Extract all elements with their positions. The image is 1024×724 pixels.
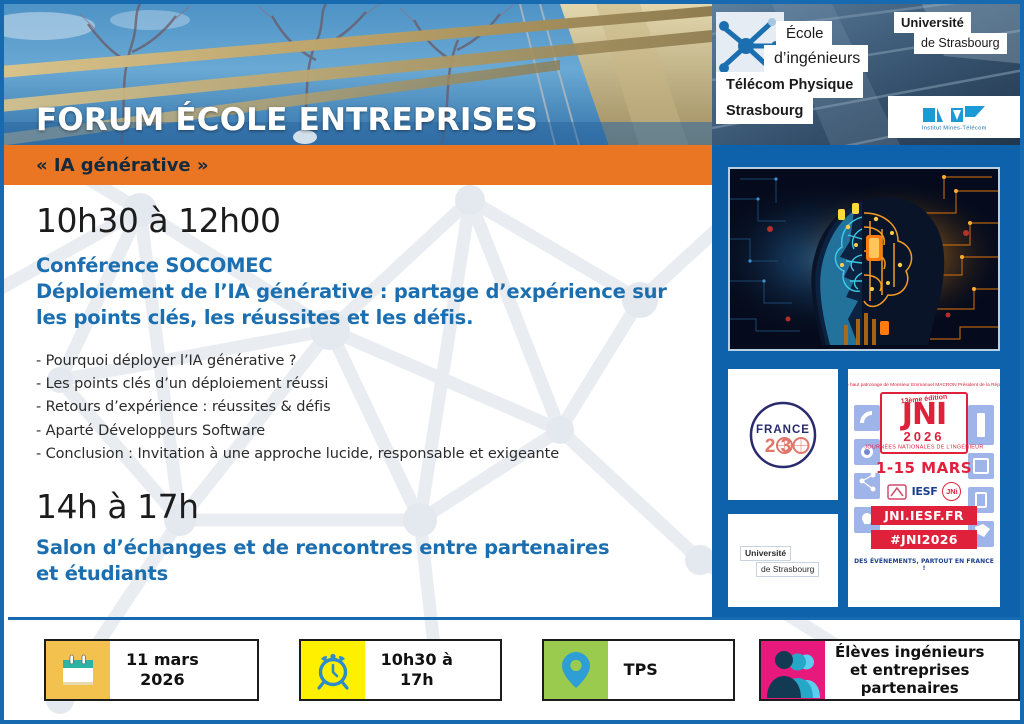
list-item: - Aparté Développeurs Software [36, 420, 682, 443]
alarm-clock-icon [301, 641, 365, 699]
school-logo-line-3: Télécom Physique [716, 72, 863, 98]
sidebar-right-column: Sous le haut patronage de Monsieur Emman… [848, 369, 1000, 612]
poster-title-band: FORUM ÉCOLE ENTREPRISES [0, 95, 712, 145]
calendar-icon [46, 641, 110, 699]
chip-label-place: TPS [608, 660, 674, 680]
page-title: FORUM ÉCOLE ENTREPRISES [0, 102, 538, 138]
info-chip-place: TPS [542, 639, 735, 701]
agenda-bullet-list: - Pourquoi déployer l’IA générative ? - … [36, 350, 682, 467]
france-2030-logo: FRANCE 2 3 [740, 392, 826, 478]
university-logo-line-1: Université [894, 12, 971, 33]
imt-caption: Institut Mines-Télécom [922, 124, 987, 130]
jni-footer-text: DES ÉVÉNEMENTS, PARTOUT EN FRANCE ! [853, 558, 995, 572]
jni-hashtag: #JNI2026 [871, 530, 977, 549]
list-item: - Les points clés d’un déploiement réuss… [36, 373, 682, 396]
morning-session: 10h30 à 12h00 Conférence SOCOMEC Déploie… [36, 203, 682, 467]
ai-brain-illustration [730, 169, 998, 349]
afternoon-description: Salon d’échanges et de rencontres entre … [36, 535, 682, 586]
main-content: 10h30 à 12h00 Conférence SOCOMEC Déploie… [0, 185, 712, 617]
school-logo-line-4: Strasbourg [716, 98, 813, 124]
ai-brain-image [728, 167, 1000, 351]
info-chip-hours: 10h30 à 17h [299, 639, 502, 701]
afternoon-session: 14h à 17h Salon d’échanges et de rencont… [36, 489, 682, 587]
conference-subtitle-line-1: Déploiement de l’IA générative : partage… [36, 279, 682, 305]
ingenieurs-mark-icon [887, 483, 907, 501]
jni-circle-logo: JNi [942, 482, 961, 501]
university-small-line-1: Université [740, 546, 791, 561]
university-small-card: Université de Strasbourg [728, 514, 838, 612]
afternoon-line-2: et étudiants [36, 561, 682, 587]
jni-website-url: JNI.IESF.FR [871, 506, 977, 525]
imt-mark-icon [923, 105, 985, 125]
jni-subtitle: JOURNÉES NATIONALES DE L’INGÉNIEUR [861, 444, 987, 450]
subtitle-text: « IA générative » [0, 155, 209, 176]
map-pin-icon [544, 641, 608, 699]
subtitle-band: « IA générative » [0, 145, 712, 185]
afternoon-time-heading: 14h à 17h [36, 489, 682, 525]
iesf-logo-text: IESF [912, 485, 938, 498]
jni-2026-poster-card: Sous le haut patronage de Monsieur Emman… [848, 369, 1000, 612]
university-small-line-2: de Strasbourg [756, 562, 819, 577]
jni-badge: 13ème édition JNI 2026 JOURNÉES NATIONAL… [880, 392, 968, 454]
chip-label-date: 11 mars 2026 [110, 650, 215, 689]
info-chip-audience: Élèves ingénieurs et entreprises partena… [759, 639, 1020, 701]
people-icon [761, 641, 825, 699]
jni-year: 2026 [882, 430, 966, 444]
footer-bar: 11 mars 2026 10h30 à 17h [0, 617, 1024, 724]
svg-text:FRANCE: FRANCE [756, 424, 810, 436]
chip-label-hours: 10h30 à 17h [365, 650, 469, 689]
school-logo-line-1: École [776, 21, 832, 45]
universite-de-strasbourg-logo: Université de Strasbourg [894, 10, 1020, 62]
institut-mines-telecom-logo: Institut Mines-Télécom [888, 96, 1020, 138]
france-2030-card: FRANCE 2 3 [728, 369, 838, 500]
logo-zone: École d’ingénieurs Télécom Physique Stra… [712, 0, 1024, 145]
morning-time-heading: 10h30 à 12h00 [36, 203, 682, 239]
list-item: - Pourquoi déployer l’IA générative ? [36, 350, 682, 373]
jni-poster: Sous le haut patronage de Monsieur Emman… [848, 369, 1000, 612]
sidebar-logo-cards: FRANCE 2 3 Université [728, 369, 1004, 612]
university-logo-line-2: de Strasbourg [914, 33, 1007, 54]
afternoon-line-1: Salon d’échanges et de rencontres entre … [36, 535, 682, 561]
list-item: - Retours d’expérience : réussites & déf… [36, 396, 682, 419]
poster-root: FORUM ÉCOLE ENTREPRISES « IA générative … [0, 0, 1024, 724]
jni-dates: 1-15 MARS [853, 459, 995, 477]
telecom-physique-strasbourg-logo: École d’ingénieurs Télécom Physique Stra… [716, 12, 888, 134]
right-sidebar: FRANCE 2 3 Université [712, 145, 1024, 617]
footer-blue-filler [716, 607, 1024, 617]
sidebar-left-column: FRANCE 2 3 Université [728, 369, 838, 612]
frame-border-left [0, 0, 4, 724]
conference-block: Conférence SOCOMEC Déploiement de l’IA g… [36, 253, 682, 330]
info-chip-date: 11 mars 2026 [44, 639, 259, 701]
conference-subtitle-line-2: les points clés, les réussites et les dé… [36, 305, 682, 331]
universite-strasbourg-small-logo: Université de Strasbourg [740, 544, 826, 582]
jni-partner-logos: IESF JNi [853, 482, 995, 501]
school-logo-line-2: d’ingénieurs [764, 45, 868, 72]
chip-label-audience: Élèves ingénieurs et entreprises partena… [825, 643, 994, 698]
list-item: - Conclusion : Invitation à une approche… [36, 443, 682, 466]
frame-border-right [1020, 0, 1024, 724]
footer-chips: 11 mars 2026 10h30 à 17h [4, 620, 1020, 720]
conference-title: Conférence SOCOMEC [36, 253, 682, 279]
